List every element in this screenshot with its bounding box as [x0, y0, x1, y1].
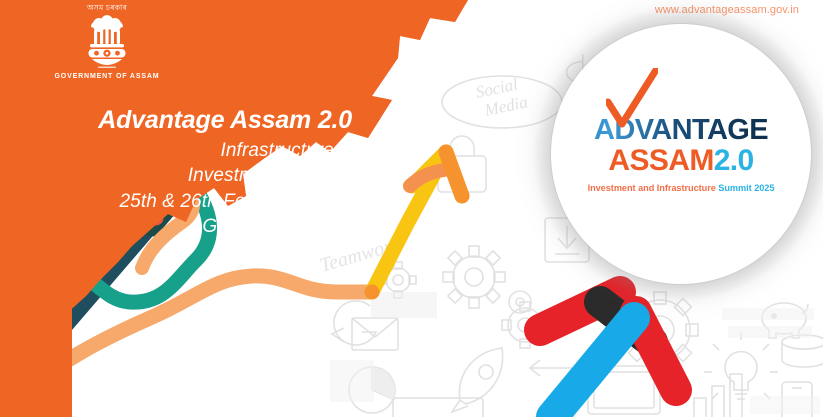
government-of-assam-emblem: অসম চৰকাৰ [52, 4, 162, 80]
website-url[interactable]: www.advantageassam.gov.in [655, 4, 799, 16]
orange-check-tick-icon [606, 68, 658, 130]
ashoka-lion-capital-icon [79, 14, 135, 70]
logo-tagline-part1: Investment and Infrastructure [588, 183, 719, 193]
page-title: Advantage Assam 2.0 [20, 106, 352, 134]
emblem-assamese-text: অসম চৰকাৰ [52, 4, 162, 12]
logo-word-version: 2.0 [714, 144, 754, 177]
logo-word-assam: ASSAM [608, 144, 713, 177]
headline-line-1: Infrastructure & [20, 138, 352, 163]
summit-logo-medallion: ADVANTAGE ASSAM2.0 Investment and Infras… [551, 24, 811, 284]
headline-block: Advantage Assam 2.0 Infrastructure & Inv… [20, 106, 352, 239]
logo-tagline-part2: Summit 2025 [718, 183, 774, 193]
headline-line-2: Investment Summit [20, 163, 352, 188]
logo-tagline: Investment and Infrastructure Summit 202… [576, 183, 786, 193]
emblem-caption: GOVERNMENT OF ASSAM [52, 73, 162, 80]
logo-line-assam-version: ASSAM2.0 [576, 146, 786, 176]
headline-line-4: Guwahati, Assam [20, 214, 352, 239]
advantage-assam-banner: Social Media [0, 0, 823, 417]
headline-line-3: 25th & 26th February, 2025 [20, 189, 352, 214]
